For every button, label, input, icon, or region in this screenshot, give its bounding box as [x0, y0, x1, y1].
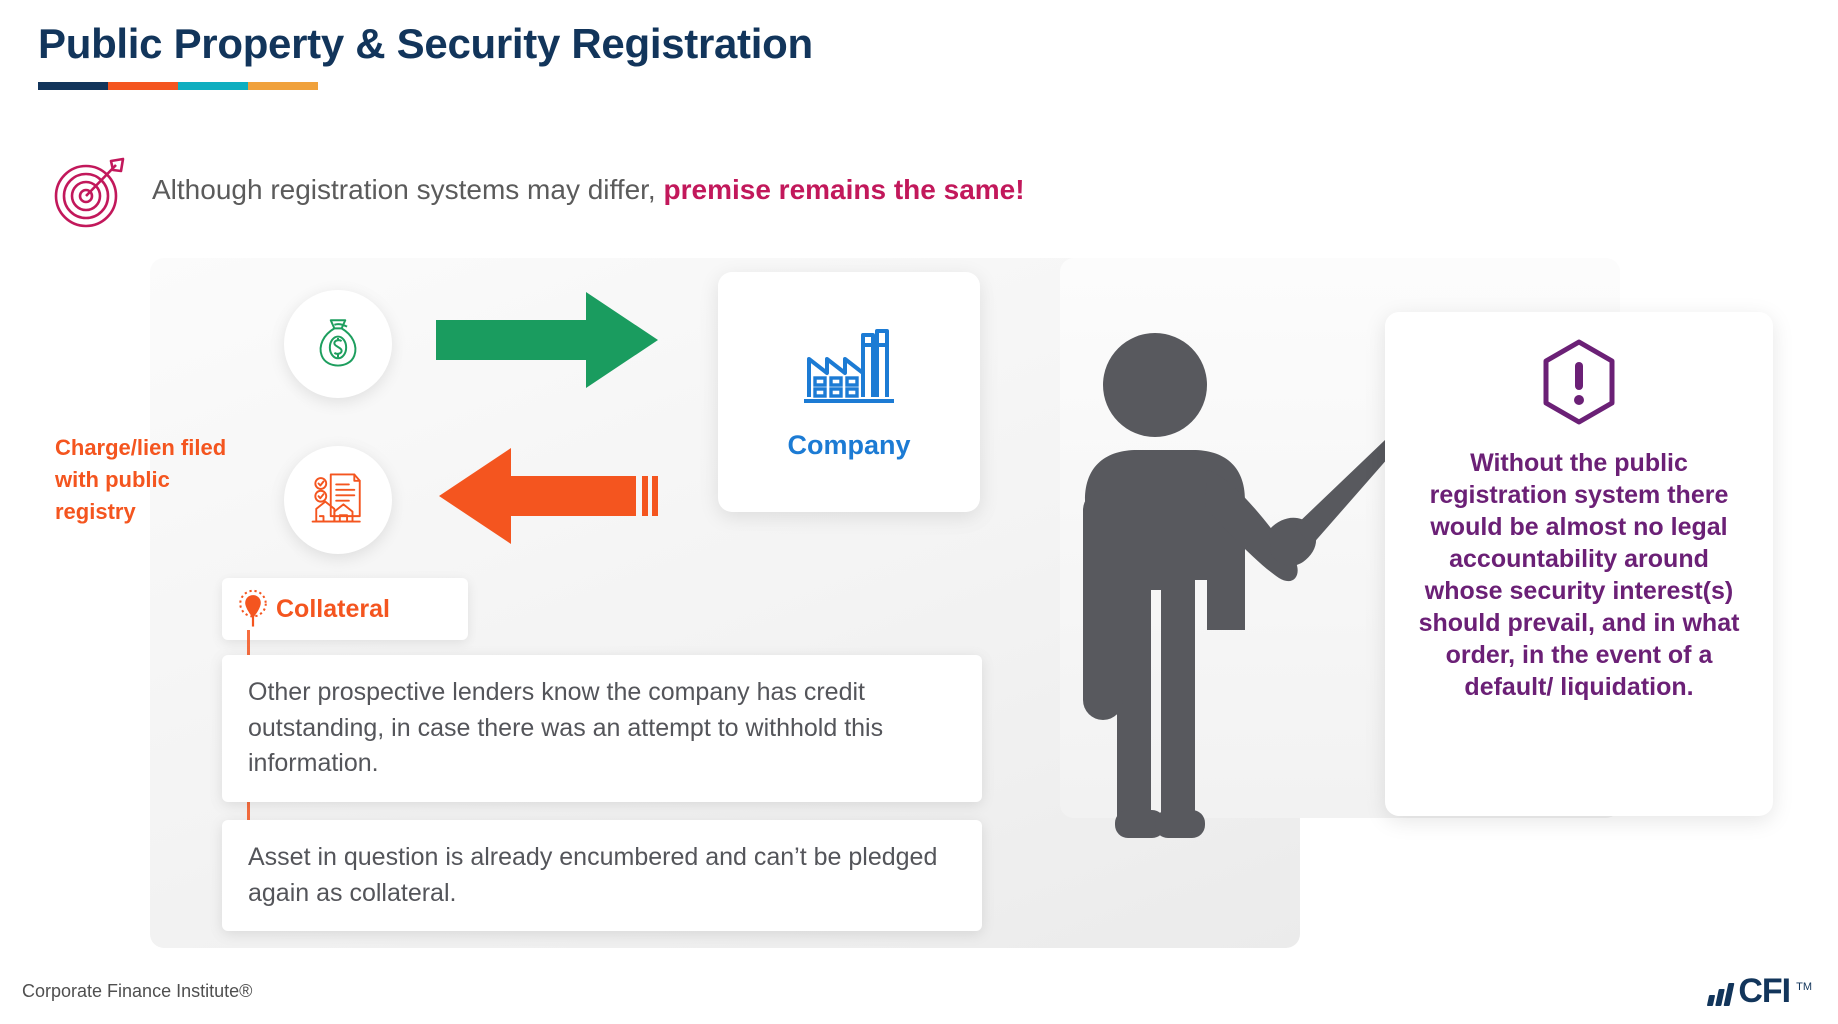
title-underline-rule	[38, 82, 318, 90]
location-pin-icon	[236, 586, 270, 633]
subtitle-text: Although registration systems may differ…	[152, 174, 1025, 206]
subtitle-row: Although registration systems may differ…	[50, 150, 1025, 230]
person-pointing-icon	[1055, 330, 1415, 890]
logo-trademark: TM	[1796, 981, 1812, 993]
rule-segment-4	[248, 82, 318, 90]
collateral-badge[interactable]: Collateral	[222, 578, 468, 640]
hexagon-exclamation-icon	[1538, 338, 1620, 431]
callout-card: Without the public registration system t…	[1385, 312, 1773, 816]
rule-segment-3	[178, 82, 248, 90]
logo-wordmark: CFI	[1738, 977, 1790, 1006]
charge-lien-label: Charge/lien filed with public registry	[55, 432, 245, 528]
target-icon	[50, 150, 130, 230]
subtitle-highlight: premise remains the same!	[664, 174, 1025, 205]
copyright-text: Corporate Finance Institute®	[22, 981, 252, 1002]
company-card[interactable]: Company	[718, 272, 980, 512]
registry-document-house-icon	[309, 469, 367, 532]
company-label: Company	[787, 430, 910, 461]
arrow-right-icon	[436, 290, 661, 390]
callout-text: Without the public registration system t…	[1411, 447, 1747, 703]
money-badge	[284, 290, 392, 398]
list-item: Other prospective lenders know the compa…	[222, 655, 982, 802]
subtitle-normal: Although registration systems may differ…	[152, 174, 656, 205]
rule-segment-1	[38, 82, 108, 90]
page-title: Public Property & Security Registration	[38, 20, 813, 68]
list-item: Asset in question is already encumbered …	[222, 820, 982, 931]
logo-bars-icon	[1708, 980, 1732, 1006]
rule-segment-2	[108, 82, 178, 90]
registry-badge	[284, 446, 392, 554]
title-block: Public Property & Security Registration	[38, 20, 813, 90]
cfi-logo: CFI TM	[1708, 977, 1812, 1006]
arrow-left-icon	[436, 446, 661, 546]
collateral-label: Collateral	[276, 595, 390, 624]
factory-icon	[801, 323, 897, 412]
money-bag-icon	[309, 313, 367, 376]
